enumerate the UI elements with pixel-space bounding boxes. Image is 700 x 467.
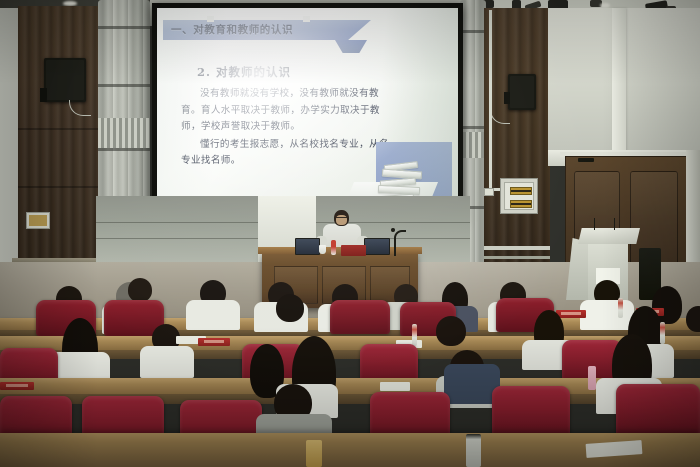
door-closer: [578, 158, 594, 162]
breaker-row-1: [510, 187, 532, 195]
wall-speaker-left-grille: [46, 60, 84, 100]
yellow-bottle: [306, 440, 322, 467]
slide-paragraph-1: 没有教师就没有学校，没有教师就没有教育。育人水平取决于教师，办学实力取决于教师，…: [181, 86, 395, 136]
right-wood-paneling: [484, 8, 550, 264]
seat-r1-6[interactable]: [616, 384, 700, 436]
wall-socket: [484, 188, 494, 196]
electrical-panel: [500, 178, 538, 214]
seat-r1-5[interactable]: [492, 386, 570, 438]
right-wall-rail-1: [484, 246, 550, 250]
water-bottle-c2: [660, 322, 665, 344]
water-bottle-b2: [618, 298, 623, 318]
projection-screen: 一、对教育和教师的认识 2. 对教师的认识 没有教师就没有学校，没有教师就没有教…: [157, 8, 458, 214]
head-c6: [686, 306, 700, 332]
water-cup: [319, 245, 326, 254]
slide-paragraph-2: 懂行的考生报志愿，从名校找名专业，从名专业找名师。: [181, 137, 395, 170]
lectern-microphone-1: [594, 218, 595, 230]
column-left-band-1: [98, 26, 150, 29]
lectern-top: [578, 228, 640, 244]
torso-b4: [186, 300, 240, 330]
wall-speaker-right: [508, 74, 536, 110]
lecture-hall-photo: 一、对教育和教师的认识 2. 对教师的认识 没有教师就没有学校，没有教师就没有教…: [0, 0, 700, 467]
pink-tumbler: [588, 366, 596, 390]
wall-speaker-right-bracket: [504, 92, 510, 104]
projection-screen-frame: 一、对教育和教师的认识 2. 对教师的认识 没有教师就没有学校，没有教师就没有教…: [152, 3, 463, 219]
column-left-fluting: [98, 118, 150, 148]
head-c3: [436, 316, 466, 346]
wall-speaker-left-bracket: [40, 88, 47, 102]
slide-heading: 2. 对教师的认识: [197, 64, 291, 80]
slide-paragraph-2-text: 懂行的考生报志愿，从名校找名专业，从名专业找名师。: [181, 139, 389, 167]
torso-b11: [580, 300, 634, 330]
column-left-band-2: [98, 84, 150, 87]
slide-banner-ribbon-tail: [335, 40, 367, 53]
right-wall-rail-2: [484, 256, 550, 259]
slide-banner-text: 一、对教育和教师的认识: [171, 22, 371, 37]
left-wall-plate-face: [29, 215, 47, 226]
name-placard-c1: [198, 338, 230, 346]
breaker-row-2: [510, 200, 532, 208]
wall-speaker-right-grille: [510, 76, 534, 108]
seat-r3-3[interactable]: [330, 300, 390, 334]
wall-pilaster: [612, 8, 626, 156]
slide-body: 没有教师就没有学校，没有教师就没有教育。育人水平取决于教师，办学实力取决于教师，…: [181, 86, 395, 171]
left-wood-seam-2: [18, 186, 98, 188]
notebook-d1: [380, 382, 410, 391]
slide-paragraph-1-text: 没有教师就没有学校，没有教师就没有教育。育人水平取决于教师，办学实力取决于教师，…: [181, 88, 380, 132]
head-b3: [128, 278, 152, 302]
slide-banner: 一、对教育和教师的认识: [163, 20, 393, 48]
name-placard-b1: [556, 310, 586, 318]
red-drink-bottle: [331, 240, 336, 255]
microphone-gooseneck: [394, 230, 406, 256]
column-right-fluting: [460, 132, 486, 158]
left-wood-seam-1: [18, 128, 98, 130]
lectern-microphone-2: [614, 218, 615, 230]
column-left-band-3: [98, 148, 150, 151]
seat-r2-3[interactable]: [360, 344, 418, 382]
torso-c2: [140, 346, 194, 378]
name-placard-d1: [0, 382, 34, 390]
laptop-left-screen: [296, 239, 319, 254]
left-wall-plate: [26, 212, 50, 229]
thermos-tumbler: [466, 434, 481, 467]
head-b6: [276, 294, 304, 322]
column-right-band-1: [460, 30, 486, 33]
water-bottle-c1: [412, 324, 417, 346]
red-placard-box: [341, 245, 366, 256]
left-wood-paneling: [18, 6, 98, 296]
column-right-band-2: [460, 126, 486, 129]
laptop-left[interactable]: [295, 238, 320, 255]
wall-speaker-left: [44, 58, 86, 102]
presenter-glasses: [336, 217, 347, 219]
laptop-right-screen: [365, 239, 389, 254]
laptop-right[interactable]: [364, 238, 390, 255]
wall-conduit-vertical: [489, 10, 492, 190]
microphone-head: [391, 228, 395, 232]
